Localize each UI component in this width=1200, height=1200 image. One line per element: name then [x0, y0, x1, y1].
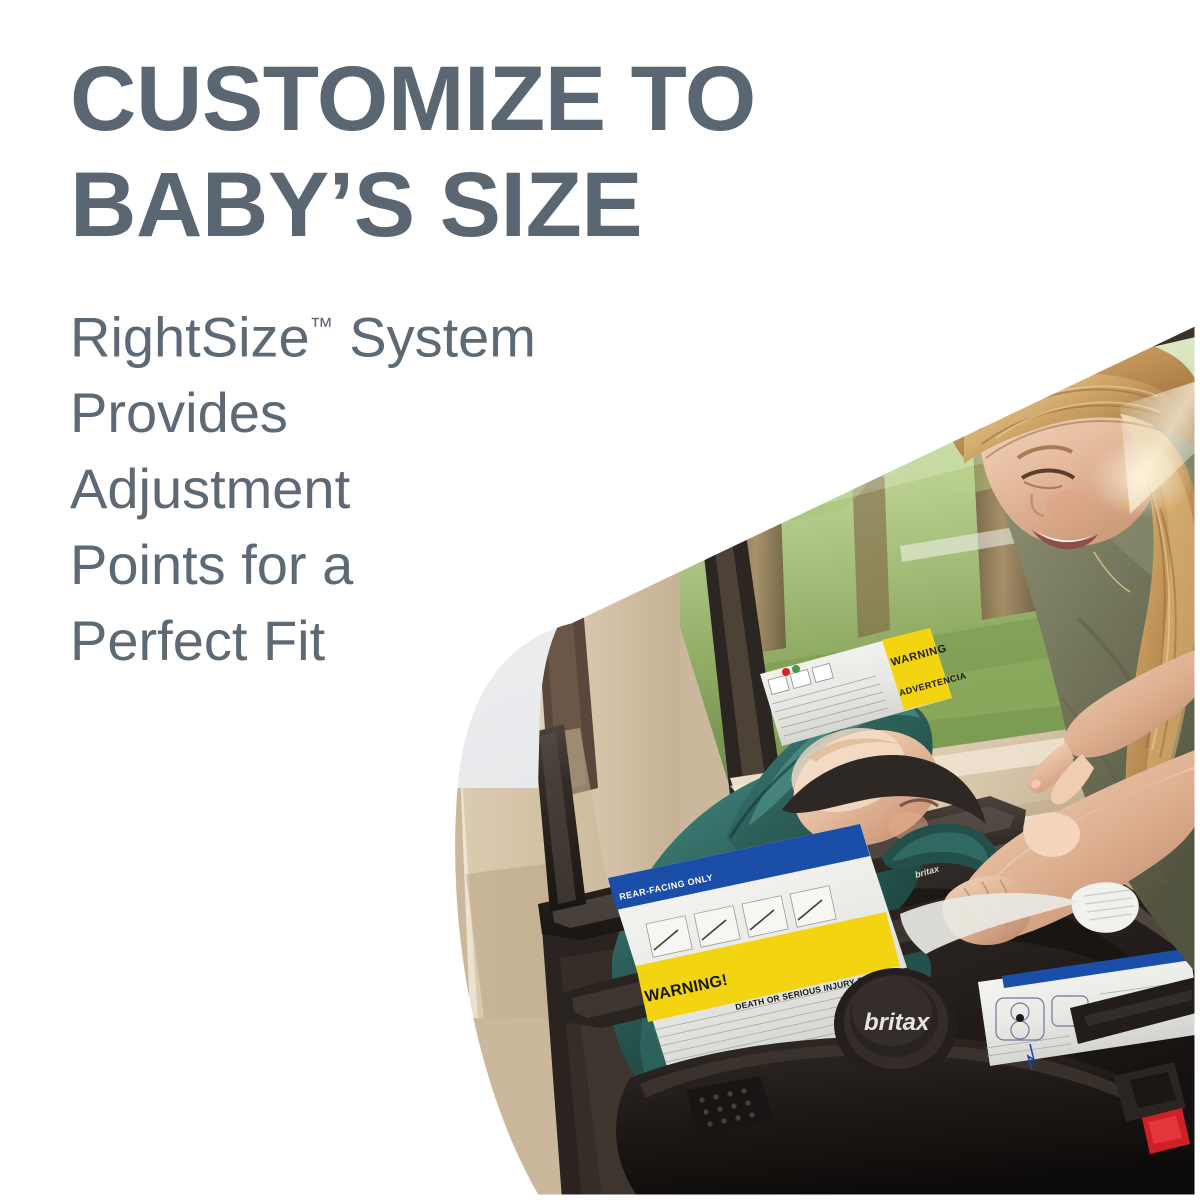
page-subtitle: RightSize™ System Provides Adjustment Po…: [70, 258, 900, 679]
page-title: CUSTOMIZE TO BABY’S SIZE: [70, 46, 900, 258]
subtitle-product-name: RightSize: [70, 305, 310, 368]
promo-image-canvas: WARNING ADVERTENCIA: [0, 0, 1200, 1200]
marketing-copy-block: CUSTOMIZE TO BABY’S SIZE RightSize™ Syst…: [70, 46, 900, 679]
britax-logo-disc: britax: [834, 968, 958, 1080]
britax-logo: britax: [864, 1009, 931, 1036]
trademark-symbol: ™: [310, 313, 334, 339]
